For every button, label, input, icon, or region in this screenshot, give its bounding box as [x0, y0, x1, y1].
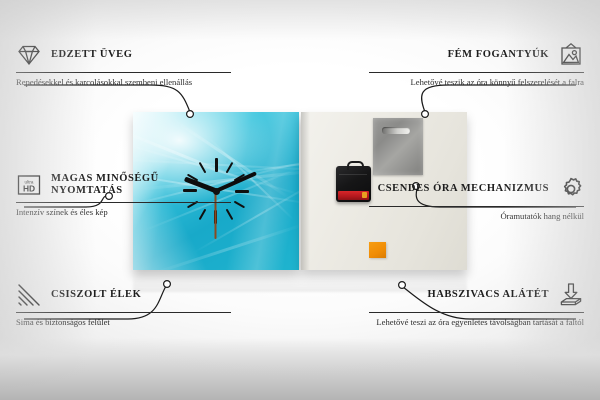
gear-icon [558, 176, 584, 202]
hatch-lines-icon [16, 282, 42, 308]
callout-rule [16, 312, 231, 313]
battery-terminal [362, 192, 367, 198]
callout-rule [16, 72, 231, 73]
metal-hanger [373, 118, 423, 175]
callout-desc: Intenzív színek és éles kép [16, 207, 231, 218]
clock-mechanism [336, 166, 371, 202]
callout-rule [16, 202, 231, 203]
svg-text:HD: HD [23, 184, 35, 194]
callout-metal-handles[interactable]: FÉM FOGANTYÚK Lehetővé teszik az óra kön… [369, 42, 584, 88]
callout-title: MAGAS MINŐSÉGŰ NYOMTATÁS [51, 173, 231, 198]
callout-rule [369, 206, 584, 207]
callout-title: EDZETT ÜVEG [51, 49, 132, 61]
infographic-stage: EDZETT ÜVEG Repedésekkel és karcolásokka… [0, 0, 600, 400]
battery [338, 191, 369, 200]
callout-title: HABSZIVACS ALÁTÉT [428, 289, 550, 301]
mechanism-lug [347, 161, 364, 170]
ultra-hd-icon: ultra HD [16, 172, 42, 198]
foam-pad [369, 242, 386, 258]
callout-title: FÉM FOGANTYÚK [448, 49, 549, 61]
callout-desc: Sima és biztonságos felület [16, 317, 231, 328]
callout-silent-mechanism[interactable]: CSENDES ÓRA MECHANIZMUS Óramutatók hang … [369, 176, 584, 222]
callout-title: CSENDES ÓRA MECHANIZMUS [378, 183, 549, 195]
callout-desc: Repedésekkel és karcolásokkal szembeni e… [16, 77, 231, 88]
callout-tempered-glass[interactable]: EDZETT ÜVEG Repedésekkel és karcolásokka… [16, 42, 231, 88]
floor-gradient [0, 338, 600, 400]
callout-title: CSISZOLT ÉLEK [51, 289, 141, 301]
callout-foam-spacer[interactable]: HABSZIVACS ALÁTÉT Lehetővé teszi az óra … [369, 282, 584, 328]
callout-polished-edges[interactable]: CSISZOLT ÉLEK Sima és biztonságos felüle… [16, 282, 231, 328]
hanger-slot [382, 127, 410, 134]
diamond-icon [16, 42, 42, 68]
hanging-frame-icon [558, 42, 584, 68]
callout-desc: Lehetővé teszi az óra egyenletes távolsá… [369, 317, 584, 328]
callout-desc: Óramutatók hang nélkül [369, 211, 584, 222]
arrow-down-pad-icon [558, 282, 584, 308]
callout-rule [369, 312, 584, 313]
callout-rule [369, 72, 584, 73]
callout-desc: Lehetővé teszik az óra könnyű felszerelé… [369, 77, 584, 88]
connector-metal-handles [422, 85, 576, 112]
callout-hq-print[interactable]: ultra HD MAGAS MINŐSÉGŰ NYOMTATÁS Intenz… [16, 172, 231, 218]
mechanism-seam [339, 174, 367, 175]
connector-tempered-glass [24, 85, 190, 112]
